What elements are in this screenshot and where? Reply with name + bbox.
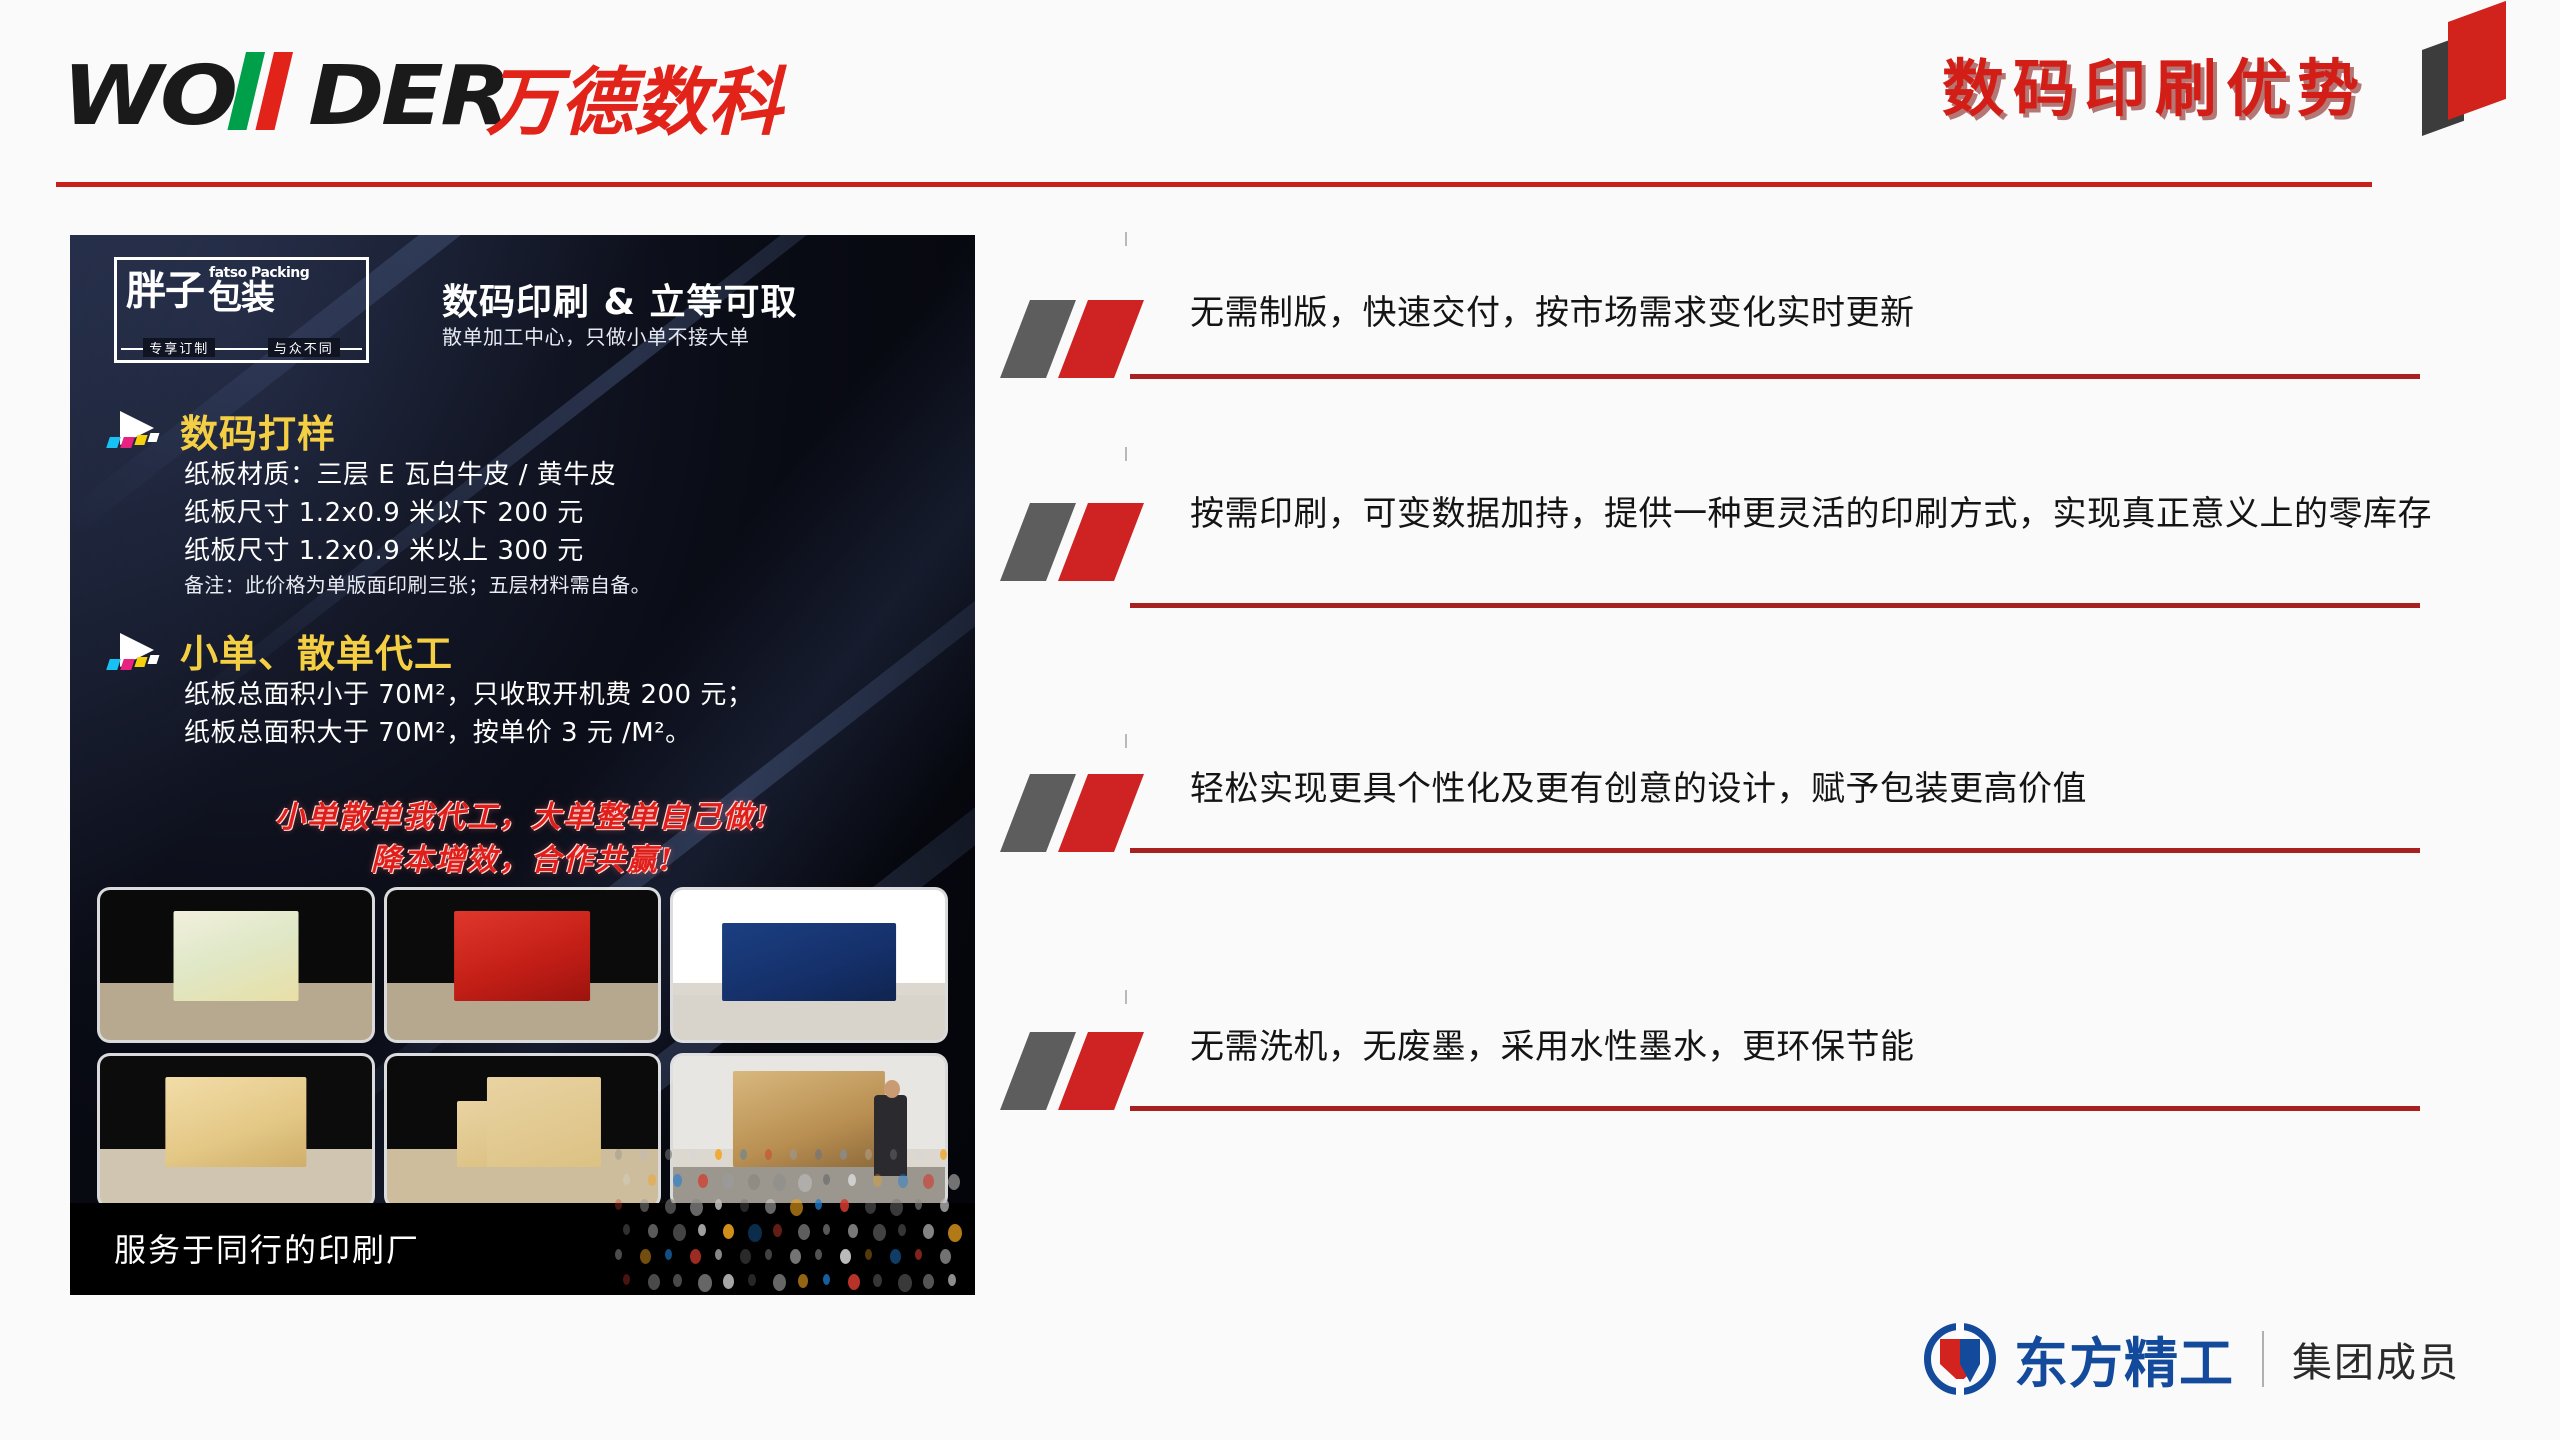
poster-footer-bar: 服务于同行的印刷厂 [70, 1203, 975, 1295]
poster-headline: 数码印刷 & 立等可取 [442, 273, 797, 325]
footer-divider [2262, 1331, 2264, 1387]
poster-line: 纸板总面积小于 70M²，只收取开机费 200 元； [184, 677, 753, 715]
wonder-letter-n-icon: N [235, 49, 309, 144]
fatso-logo-cn1: 胖子 [126, 272, 204, 310]
product-photo [100, 1056, 372, 1206]
advantage-underline-4 [1130, 1106, 2420, 1111]
product-photo [100, 890, 372, 1040]
tick-mark [1125, 990, 1127, 1004]
poster-slogan-line-1: 小单散单我代工，大单整单自己做! [70, 797, 975, 840]
advantage-text-3: 轻松实现更具个性化及更有创意的设计，赋予包装更高价值 [1190, 764, 2440, 815]
arrow-bullet-icon-1 [108, 411, 174, 455]
promo-poster-image: 胖子 fatso Packing 包装 专享订制 与众不同 数码印刷 & 立等可… [70, 235, 975, 1295]
wonder-word-post: DER [308, 49, 508, 144]
corner-red-shape [2448, 1, 2506, 120]
header-divider [56, 182, 2372, 187]
group-member-label: 集团成员 [2292, 1330, 2460, 1388]
poster-section-title-2: 小单、散单代工 [180, 623, 453, 678]
advantage-underline-3 [1130, 848, 2420, 853]
advantage-text-2: 按需印刷，可变数据加持，提供一种更灵活的印刷方式，实现真正意义上的零库存 [1190, 489, 2440, 540]
advantage-item-4: 无需洗机，无废墨，采用水性墨水，更环保节能 [1000, 1000, 2480, 1200]
mark-top-notch [1956, 1323, 1964, 1339]
product-photo [673, 890, 945, 1040]
poster-line: 纸板材质：三层 E 瓦白牛皮 / 黄牛皮 [184, 457, 651, 495]
fatso-tag-right: 与众不同 [268, 338, 340, 357]
poster-section-lines-1: 纸板材质：三层 E 瓦白牛皮 / 黄牛皮 纸板尺寸 1.2x0.9 米以下 20… [184, 457, 651, 600]
advantages-list: 无需制版，快速交付，按市场需求变化实时更新 按需印刷，可变数据加持，提供一种更灵… [1000, 260, 2480, 1200]
chevron-marker-icon-4 [1015, 1032, 1165, 1110]
advantage-item-3: 轻松实现更具个性化及更有创意的设计，赋予包装更高价值 [1000, 740, 2480, 1000]
chevron-marker-icon-3 [1015, 774, 1165, 852]
poster-section-note-1: 备注：此价格为单版面印刷三张；五层材料需自备。 [184, 571, 651, 600]
advantage-underline-1 [1130, 374, 2420, 379]
poster-section-title-1: 数码打样 [180, 403, 336, 458]
tick-mark [1125, 447, 1127, 461]
advantage-underline-2 [1130, 603, 2420, 608]
wonder-chinese-name: 万德数科 [486, 66, 782, 140]
dot-pattern-decoration [615, 1145, 975, 1295]
mark-bottom-notch [1956, 1379, 1964, 1395]
fatso-logo-cn2: 包装 [208, 281, 309, 315]
arrow-bullet-icon-2 [108, 633, 174, 677]
corner-decoration-icon [2422, 8, 2518, 136]
product-photo [387, 890, 659, 1040]
poster-slogan: 小单散单我代工，大单整单自己做! 降本增效，合作共赢! [70, 797, 975, 882]
wonder-wordmark: WONDER [62, 56, 508, 138]
page-title: 数码印刷优势 [1942, 38, 2368, 128]
poster-line: 纸板尺寸 1.2x0.9 米以下 200 元 [184, 495, 651, 533]
chevron-marker-icon-1 [1015, 300, 1165, 378]
poster-section-lines-2: 纸板总面积小于 70M²，只收取开机费 200 元； 纸板总面积大于 70M²，… [184, 677, 753, 753]
fatso-packing-logo: 胖子 fatso Packing 包装 专享订制 与众不同 [114, 257, 369, 363]
page-header: WONDER 万德数科 数码印刷优势 [0, 0, 2560, 190]
poster-subheadline: 散单加工中心，只做小单不接大单 [442, 321, 750, 350]
wonder-word-pre: WO [62, 49, 235, 144]
poster-line: 纸板总面积大于 70M²，按单价 3 元 /M²。 [184, 715, 753, 753]
tick-mark [1125, 734, 1127, 748]
wonder-brand-logo: WONDER 万德数科 [62, 58, 782, 138]
poster-footer-text: 服务于同行的印刷厂 [114, 1225, 420, 1271]
corporate-footer-logo: 东方精工 集团成员 [1924, 1319, 2460, 1398]
poster-line: 纸板尺寸 1.2x0.9 米以上 300 元 [184, 533, 651, 571]
advantage-item-1: 无需制版，快速交付，按市场需求变化实时更新 [1000, 260, 2480, 455]
advantage-text-1: 无需制版，快速交付，按市场需求变化实时更新 [1190, 288, 2440, 339]
advantage-text-4: 无需洗机，无废墨，采用水性墨水，更环保节能 [1190, 1022, 2440, 1073]
company-name: 东方精工 [2014, 1319, 2234, 1398]
dongfang-jingong-mark-icon [1924, 1323, 1996, 1395]
chevron-marker-icon-2 [1015, 503, 1165, 581]
advantage-item-2: 按需印刷，可变数据加持，提供一种更灵活的印刷方式，实现真正意义上的零库存 [1000, 455, 2480, 740]
fatso-tag-left: 专享订制 [143, 338, 215, 357]
tick-mark [1125, 232, 1127, 246]
poster-slogan-line-2: 降本增效，合作共赢! [70, 840, 975, 883]
